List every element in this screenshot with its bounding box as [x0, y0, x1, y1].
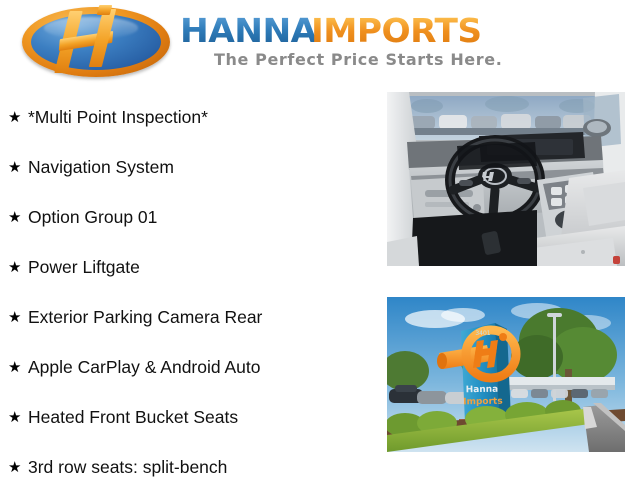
- feature-label: *Multi Point Inspection*: [28, 107, 208, 128]
- vehicle-feature-list: ★ *Multi Point Inspection* ★ Navigation …: [0, 92, 380, 492]
- brand-tagline: The Perfect Price Starts Here.: [214, 50, 502, 69]
- star-bullet-icon: ★: [8, 210, 28, 225]
- feature-label: 3rd row seats: split-bench: [28, 457, 227, 478]
- list-item: ★ *Multi Point Inspection*: [0, 92, 380, 142]
- hanna-oval-h-logo-icon: [22, 7, 170, 77]
- feature-label: Heated Front Bucket Seats: [28, 407, 238, 428]
- star-bullet-icon: ★: [8, 460, 28, 475]
- list-item: ★ Option Group 01: [0, 192, 380, 242]
- list-item: ★ 3rd row seats: split-bench: [0, 442, 380, 492]
- feature-label: Apple CarPlay & Android Auto: [28, 357, 261, 378]
- vehicle-interior-illustration: [387, 92, 625, 266]
- feature-label: Option Group 01: [28, 207, 157, 228]
- svg-text:3401: 3401: [475, 330, 490, 337]
- feature-label: Navigation System: [28, 157, 174, 178]
- vehicle-interior-photo: [387, 92, 625, 266]
- brand-name-primary: HANNA: [180, 13, 317, 49]
- list-item: ★ Power Liftgate: [0, 242, 380, 292]
- brand-header: HANNAIMPORTS The Perfect Price Starts He…: [0, 0, 640, 88]
- list-item: ★ Navigation System: [0, 142, 380, 192]
- star-bullet-icon: ★: [8, 160, 28, 175]
- svg-text:Hanna: Hanna: [466, 385, 499, 396]
- list-item: ★ Exterior Parking Camera Rear: [0, 292, 380, 342]
- dealership-sign-illustration: Hanna Imports 3401: [387, 297, 625, 452]
- star-bullet-icon: ★: [8, 260, 28, 275]
- brand-wordmark: HANNAIMPORTS: [180, 13, 476, 49]
- dealership-sign-photo: Hanna Imports 3401: [387, 297, 625, 452]
- brand-name-secondary: IMPORTS: [311, 13, 482, 49]
- feature-label: Exterior Parking Camera Rear: [28, 307, 262, 328]
- list-item: ★ Apple CarPlay & Android Auto: [0, 342, 380, 392]
- star-bullet-icon: ★: [8, 360, 28, 375]
- feature-label: Power Liftgate: [28, 257, 140, 278]
- star-bullet-icon: ★: [8, 410, 28, 425]
- list-item: ★ Heated Front Bucket Seats: [0, 392, 380, 442]
- star-bullet-icon: ★: [8, 110, 28, 125]
- svg-text:Imports: Imports: [463, 397, 503, 408]
- logo-h-accent-dot: [97, 5, 112, 15]
- star-bullet-icon: ★: [8, 310, 28, 325]
